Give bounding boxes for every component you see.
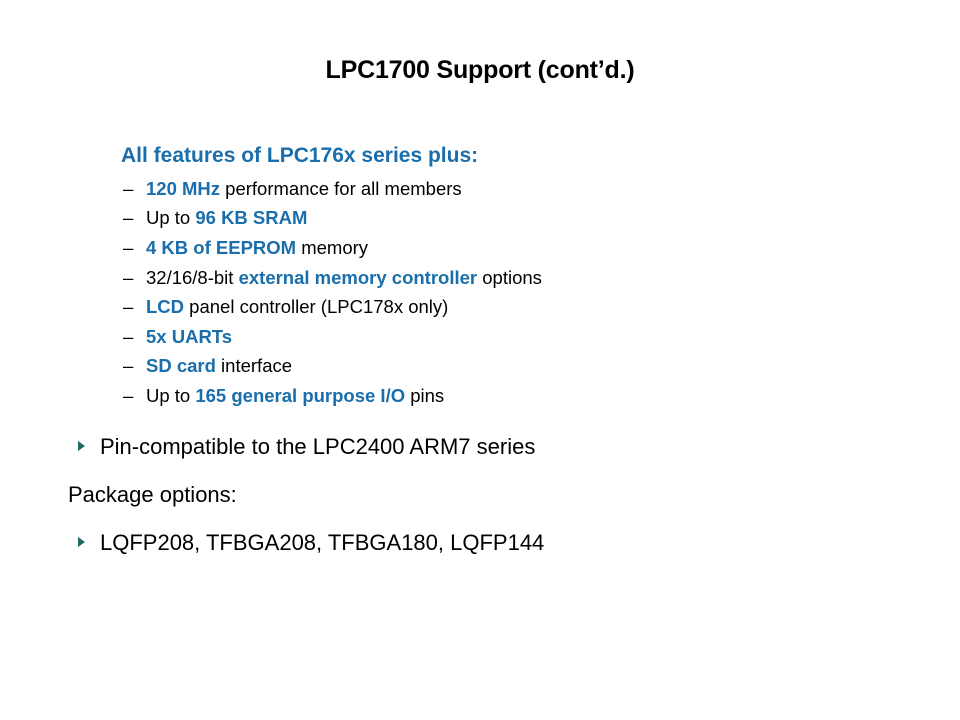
spacer (0, 411, 960, 433)
pin-compatible-text: Pin-compatible to the LPC2400 ARM7 serie… (100, 434, 535, 459)
package-options-text: LQFP208, TFBGA208, TFBGA180, LQFP144 (100, 530, 544, 555)
plain-text: 32/16/8-bit (146, 267, 239, 288)
highlight-text: 165 general purpose I/O (195, 385, 405, 406)
list-item-text: 120 MHz performance for all members (146, 178, 462, 199)
list-item-text: 4 KB of EEPROM memory (146, 237, 368, 258)
highlight-text: 5x UARTs (146, 326, 232, 347)
list-item: – 32/16/8-bit external memory controller… (0, 263, 960, 293)
dash-marker-icon: – (123, 322, 133, 352)
list-item-text: 5x UARTs (146, 326, 232, 347)
plain-text: panel controller (LPC178x only) (184, 296, 448, 317)
dash-marker-icon: – (123, 263, 133, 293)
dash-marker-icon: – (123, 381, 133, 411)
package-options-label: Package options: (0, 481, 960, 509)
plain-text: memory (296, 237, 368, 258)
list-item-text: 32/16/8-bit external memory controller o… (146, 267, 542, 288)
list-item: – Up to 165 general purpose I/O pins (0, 381, 960, 411)
highlight-text: 4 KB of EEPROM (146, 237, 296, 258)
pin-compatible-bullet: Pin-compatible to the LPC2400 ARM7 serie… (0, 433, 960, 461)
dash-marker-icon: – (123, 233, 133, 263)
list-item: – 120 MHz performance for all members (0, 174, 960, 204)
list-item: – SD card interface (0, 351, 960, 381)
list-item: – Up to 96 KB SRAM (0, 203, 960, 233)
highlight-text: 96 KB SRAM (195, 207, 307, 228)
list-item: – 5x UARTs (0, 322, 960, 352)
plain-text: Up to (146, 385, 195, 406)
features-heading: All features of LPC176x series plus: (0, 143, 960, 170)
dash-marker-icon: – (123, 174, 133, 204)
highlight-text: 120 MHz (146, 178, 220, 199)
dash-marker-icon: – (123, 203, 133, 233)
list-item: – 4 KB of EEPROM memory (0, 233, 960, 263)
plain-text: options (477, 267, 542, 288)
plain-text: performance for all members (220, 178, 462, 199)
highlight-text: SD card (146, 355, 216, 376)
highlight-text: external memory controller (239, 267, 478, 288)
list-item-text: Up to 165 general purpose I/O pins (146, 385, 444, 406)
triangle-bullet-icon (78, 441, 85, 451)
spacer (0, 509, 960, 529)
spacer (0, 460, 960, 481)
list-item-text: LCD panel controller (LPC178x only) (146, 296, 448, 317)
triangle-bullet-icon (78, 537, 85, 547)
list-item-text: Up to 96 KB SRAM (146, 207, 307, 228)
plain-text: pins (405, 385, 444, 406)
list-item-text: SD card interface (146, 355, 292, 376)
page-title: LPC1700 Support (cont’d.) (0, 56, 960, 85)
slide-canvas: LPC1700 Support (cont’d.) All features o… (0, 0, 960, 720)
plain-text: Up to (146, 207, 195, 228)
list-item: – LCD panel controller (LPC178x only) (0, 292, 960, 322)
slide-body: All features of LPC176x series plus: – 1… (0, 143, 960, 556)
dash-marker-icon: – (123, 351, 133, 381)
feature-sub-bullet-list: – 120 MHz performance for all members – … (0, 174, 960, 411)
package-options-bullet: LQFP208, TFBGA208, TFBGA180, LQFP144 (0, 529, 960, 557)
plain-text: interface (216, 355, 292, 376)
highlight-text: LCD (146, 296, 184, 317)
dash-marker-icon: – (123, 292, 133, 322)
